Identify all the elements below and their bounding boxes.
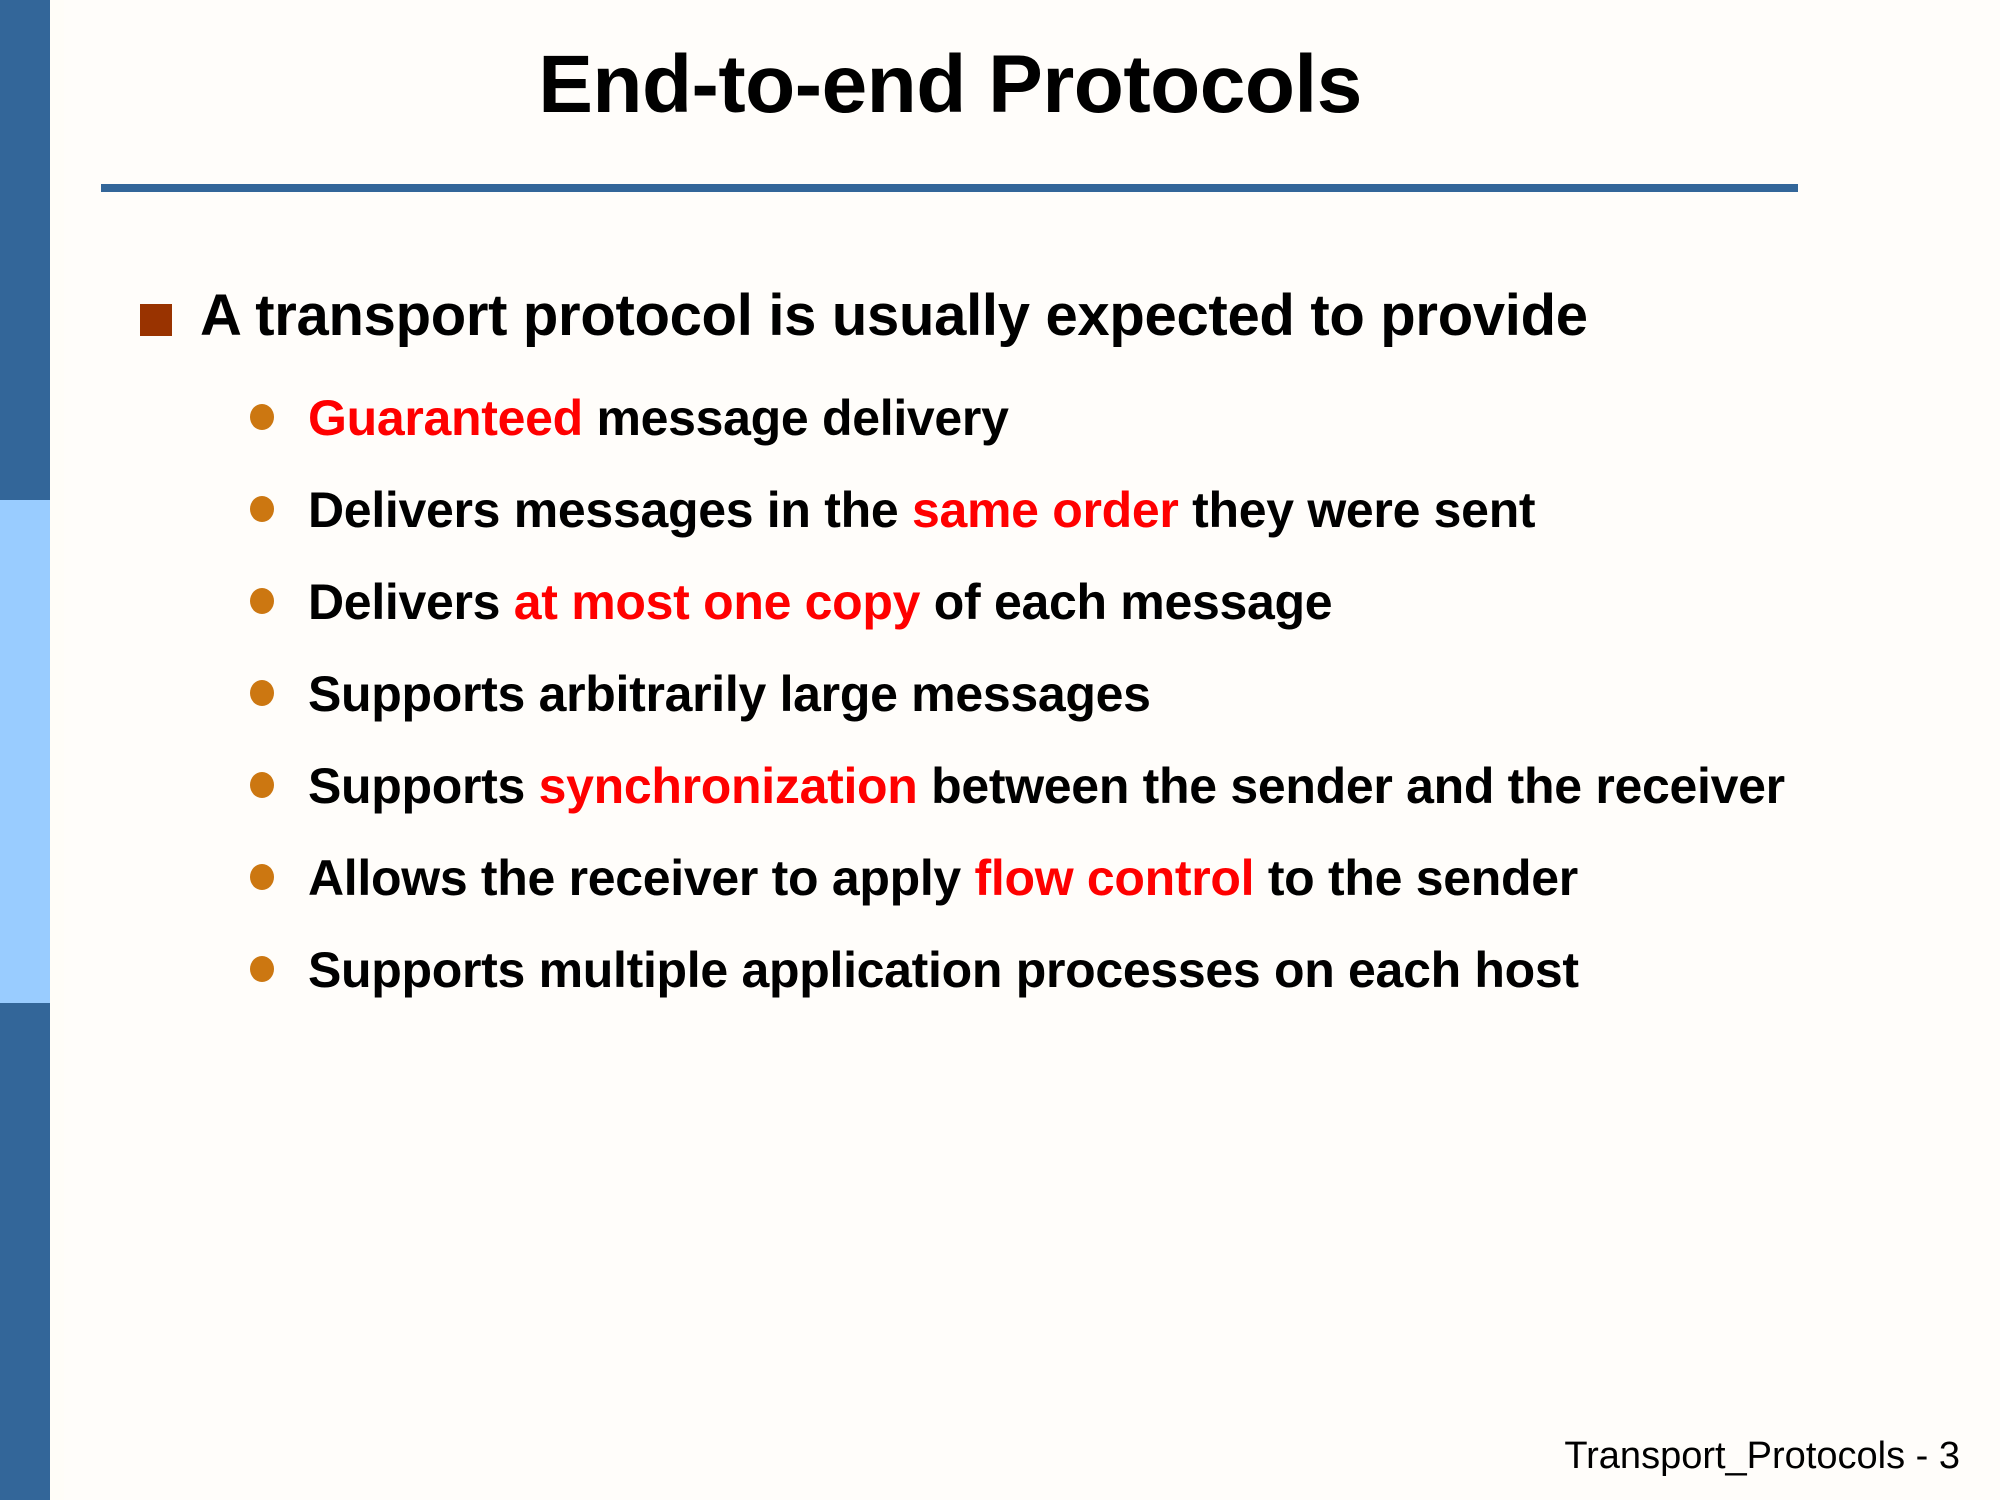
bullet-text-run: Supports — [308, 758, 539, 814]
level2-bullet-label: Delivers messages in the same order they… — [308, 478, 1535, 542]
round-bullet-icon — [250, 680, 274, 706]
level1-bullet-item: A transport protocol is usually expected… — [140, 282, 1940, 350]
sidebar-band-top — [0, 0, 50, 500]
round-bullet-icon — [250, 956, 274, 982]
sidebar-band-middle — [0, 500, 50, 1003]
slide-canvas: End-to-end Protocols A transport protoco… — [0, 0, 2000, 1500]
level2-bullet-label: Supports multiple application processes … — [308, 938, 1579, 1002]
bullet-text-run: they were sent — [1179, 482, 1536, 538]
level2-bullet-item: Guaranteed message delivery — [250, 386, 1940, 450]
level2-bullet-item: Supports arbitrarily large messages — [250, 662, 1940, 726]
slide-footer: Transport_Protocols - 3 — [1564, 1435, 1960, 1478]
level2-bullet-label: Guaranteed message delivery — [308, 386, 1009, 450]
sidebar-band-bottom — [0, 1003, 50, 1500]
highlighted-term: flow control — [975, 850, 1255, 906]
sidebar-gutter — [50, 0, 64, 1500]
level2-bullet-item: Supports multiple application processes … — [250, 938, 1940, 1002]
level1-bullet-label: A transport protocol is usually expected… — [200, 282, 1588, 350]
level2-bullet-item: Delivers messages in the same order they… — [250, 478, 1940, 542]
title-divider — [101, 184, 1798, 192]
bullet-text-run: Supports multiple application processes … — [308, 942, 1579, 998]
highlighted-term: synchronization — [539, 758, 918, 814]
level2-bullet-item: Delivers at most one copy of each messag… — [250, 570, 1940, 634]
round-bullet-icon — [250, 496, 274, 522]
bullet-text-run: Delivers — [308, 574, 514, 630]
level2-bullet-label: Delivers at most one copy of each messag… — [308, 570, 1332, 634]
highlighted-term: at most one copy — [514, 574, 920, 630]
round-bullet-icon — [250, 772, 274, 798]
highlighted-term: Guaranteed — [308, 390, 583, 446]
bullet-text-run: to the sender — [1254, 850, 1578, 906]
highlighted-term: same order — [912, 482, 1179, 538]
round-bullet-icon — [250, 588, 274, 614]
slide-body: A transport protocol is usually expected… — [140, 282, 1940, 1030]
level2-bullet-label: Supports arbitrarily large messages — [308, 662, 1151, 726]
round-bullet-icon — [250, 864, 274, 890]
level2-bullet-list: Guaranteed message deliveryDelivers mess… — [140, 386, 1940, 1002]
level2-bullet-label: Allows the receiver to apply flow contro… — [308, 846, 1578, 910]
level2-bullet-item: Allows the receiver to apply flow contro… — [250, 846, 1940, 910]
bullet-text-run: between the sender and the receiver — [918, 758, 1785, 814]
bullet-text-run: Allows the receiver to apply — [308, 850, 975, 906]
round-bullet-icon — [250, 404, 274, 430]
bullet-text-run: message delivery — [583, 390, 1009, 446]
level2-bullet-item: Supports synchronization between the sen… — [250, 754, 1940, 818]
bullet-text-run: Supports arbitrarily large messages — [308, 666, 1151, 722]
square-bullet-icon — [140, 304, 172, 336]
level2-bullet-label: Supports synchronization between the sen… — [308, 754, 1785, 818]
bullet-text-run: of each message — [920, 574, 1332, 630]
slide-title: End-to-end Protocols — [100, 42, 1800, 128]
bullet-text-run: Delivers messages in the — [308, 482, 912, 538]
